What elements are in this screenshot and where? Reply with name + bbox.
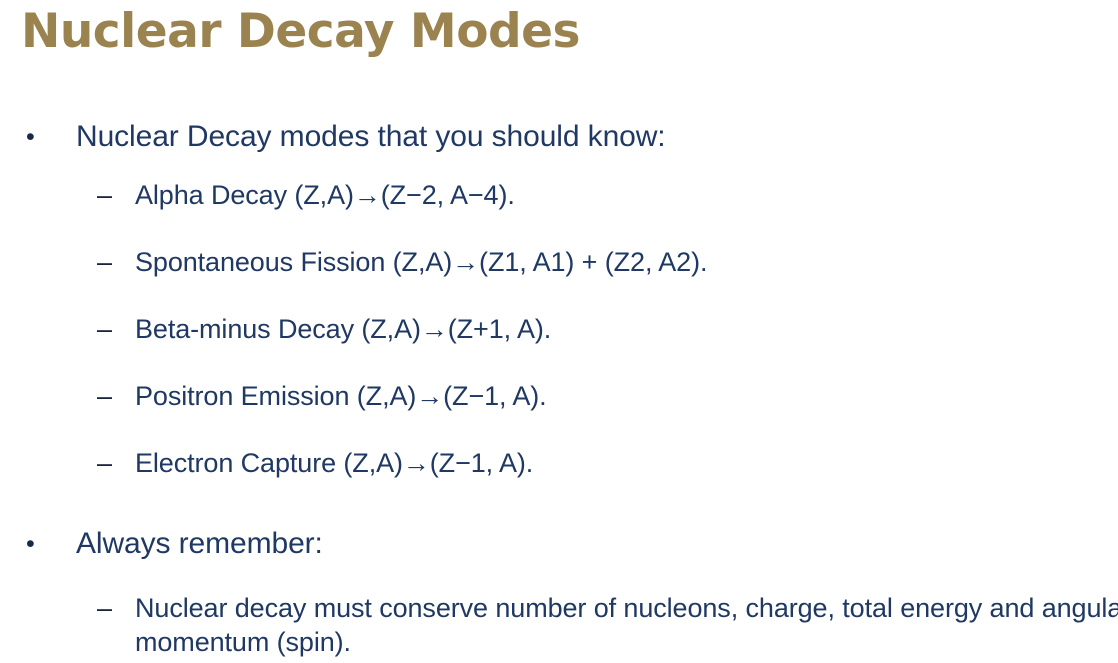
list-item: – Electron Capture (Z,A)→(Z−1, A).: [0, 446, 1118, 513]
list-item: – Alpha Decay (Z,A)→(Z−2, A−4).: [0, 178, 1118, 245]
list-item: • Always remember:: [0, 525, 1118, 585]
list-item: – Spontaneous Fission (Z,A)→(Z1, A1) + (…: [0, 245, 1118, 312]
page-title: Nuclear Decay Modes: [21, 2, 580, 62]
list-item-label: Beta-minus Decay (Z,A)→(Z+1, A).: [135, 312, 1118, 346]
list-item-label: Nuclear Decay modes that you should know…: [76, 118, 1118, 156]
bullet-dot-icon: •: [26, 118, 46, 156]
list-item: – Positron Emission (Z,A)→(Z−1, A).: [0, 379, 1118, 446]
list-item-label: Spontaneous Fission (Z,A)→(Z1, A1) + (Z2…: [135, 245, 1118, 279]
list-item: – Beta-minus Decay (Z,A)→(Z+1, A).: [0, 312, 1118, 379]
list-item-label: Alpha Decay (Z,A)→(Z−2, A−4).: [135, 178, 1118, 212]
bullet-dash-icon: –: [97, 178, 123, 212]
bullet-dash-icon: –: [97, 591, 123, 625]
list-item: • Nuclear Decay modes that you should kn…: [0, 118, 1118, 178]
bullet-dash-icon: –: [97, 312, 123, 346]
list-item-label: Electron Capture (Z,A)→(Z−1, A).: [135, 446, 1118, 480]
list-item-label: Positron Emission (Z,A)→(Z−1, A).: [135, 379, 1118, 413]
bullet-dot-icon: •: [26, 525, 46, 563]
bullet-dash-icon: –: [97, 379, 123, 413]
bullet-dash-icon: –: [97, 245, 123, 279]
list-item-label: Always remember:: [76, 525, 1118, 563]
list-item: – Nuclear decay must conserve number of …: [0, 591, 1118, 659]
list-item-label: Nuclear decay must conserve number of nu…: [135, 591, 1118, 659]
bullet-dash-icon: –: [97, 446, 123, 480]
slide-body-list: • Nuclear Decay modes that you should kn…: [0, 118, 1118, 659]
slide-canvas: Nuclear Decay Modes • Nuclear Decay mode…: [0, 0, 1118, 663]
